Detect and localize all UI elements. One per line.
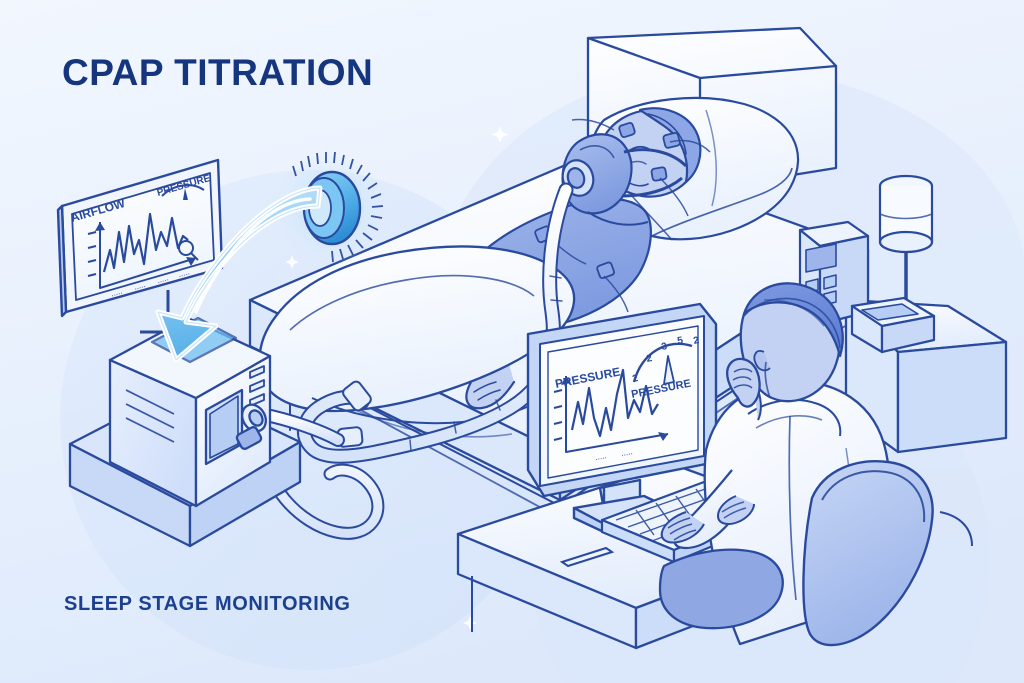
caption-label: SLEEP STAGE MONITORING (64, 593, 351, 615)
illustration-canvas: AIRFLOW PRESSURE ····· ····· ····· ····· (0, 0, 1024, 683)
page-title: CPAP TITRATION (62, 52, 373, 93)
